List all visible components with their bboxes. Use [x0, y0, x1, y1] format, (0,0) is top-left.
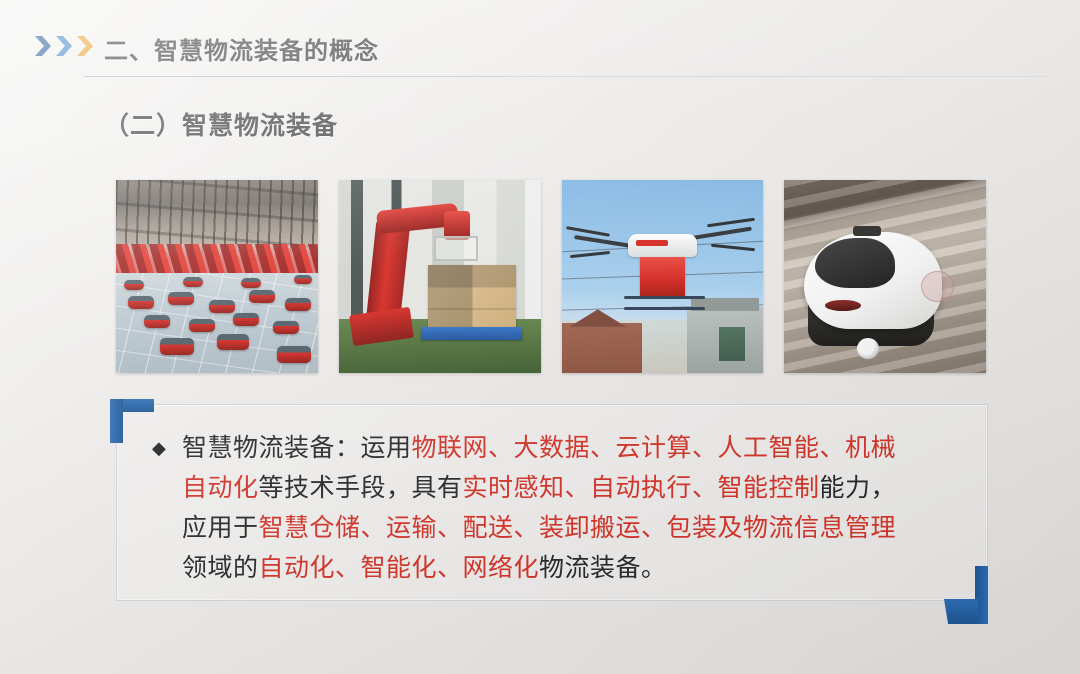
image-delivery-drone	[562, 180, 764, 373]
image-gallery	[116, 180, 986, 373]
text-run-2-4: 能力，	[820, 474, 897, 502]
chevron-group-icon	[34, 34, 96, 58]
chevron-right-icon-3	[76, 34, 96, 58]
chevron-right-icon-2	[55, 34, 75, 58]
chevron-right-icon-1	[34, 34, 54, 58]
callout-line-2: 自动化等技术手段，具有实时感知、自动执行、智能控制能力，	[182, 468, 962, 508]
text-run-2-2: 等技术手段，具有	[259, 474, 463, 502]
image-warehouse-agv-robots	[116, 180, 318, 373]
diamond-bullet-icon: ◆	[152, 428, 182, 468]
text-run-2-1: 自动化	[182, 474, 259, 502]
callout-line-1: 智慧物流装备：运用物联网、大数据、云计算、人工智能、机械	[182, 428, 962, 468]
callout-line-4: 领域的自动化、智能化、网络化物流装备。	[182, 548, 962, 588]
slide-canvas: 二、智慧物流装备的概念 （二）智慧物流装备	[0, 0, 1080, 674]
text-run-4-1: 领域的	[182, 554, 259, 582]
text-run-3-1: 应用于	[182, 514, 259, 542]
text-run-3-2: 智慧仓储、运输、配送、装卸搬运、包装及物流信息管理	[259, 514, 897, 542]
callout-text: ◆ 智慧物流装备：运用物联网、大数据、云计算、人工智能、机械自动化等技术手段，具…	[152, 428, 962, 588]
slide-header: 二、智慧物流装备的概念	[0, 0, 1080, 78]
corner-bracket-top-left	[110, 399, 154, 443]
text-run-2-3: 实时感知、自动执行、智能控制	[463, 474, 820, 502]
text-run-4-3: 物流装备。	[539, 554, 667, 582]
text-run-1-1: 智慧物流装备：运用	[182, 434, 412, 462]
callout-line-3: 应用于智慧仓储、运输、配送、装卸搬运、包装及物流信息管理	[182, 508, 962, 548]
page-title: 二、智慧物流装备的概念	[104, 31, 379, 66]
image-autonomous-delivery-robot	[784, 180, 986, 373]
image-palletizing-robot-arm	[339, 180, 541, 373]
section-subtitle: （二）智慧物流装备	[104, 106, 338, 142]
text-run-4-2: 自动化、智能化、网络化	[259, 554, 540, 582]
callout-paragraph: 智慧物流装备：运用物联网、大数据、云计算、人工智能、机械自动化等技术手段，具有实…	[182, 428, 962, 588]
text-run-1-2: 物联网、大数据、云计算、人工智能、机械	[412, 434, 897, 462]
header-divider	[84, 76, 1048, 77]
